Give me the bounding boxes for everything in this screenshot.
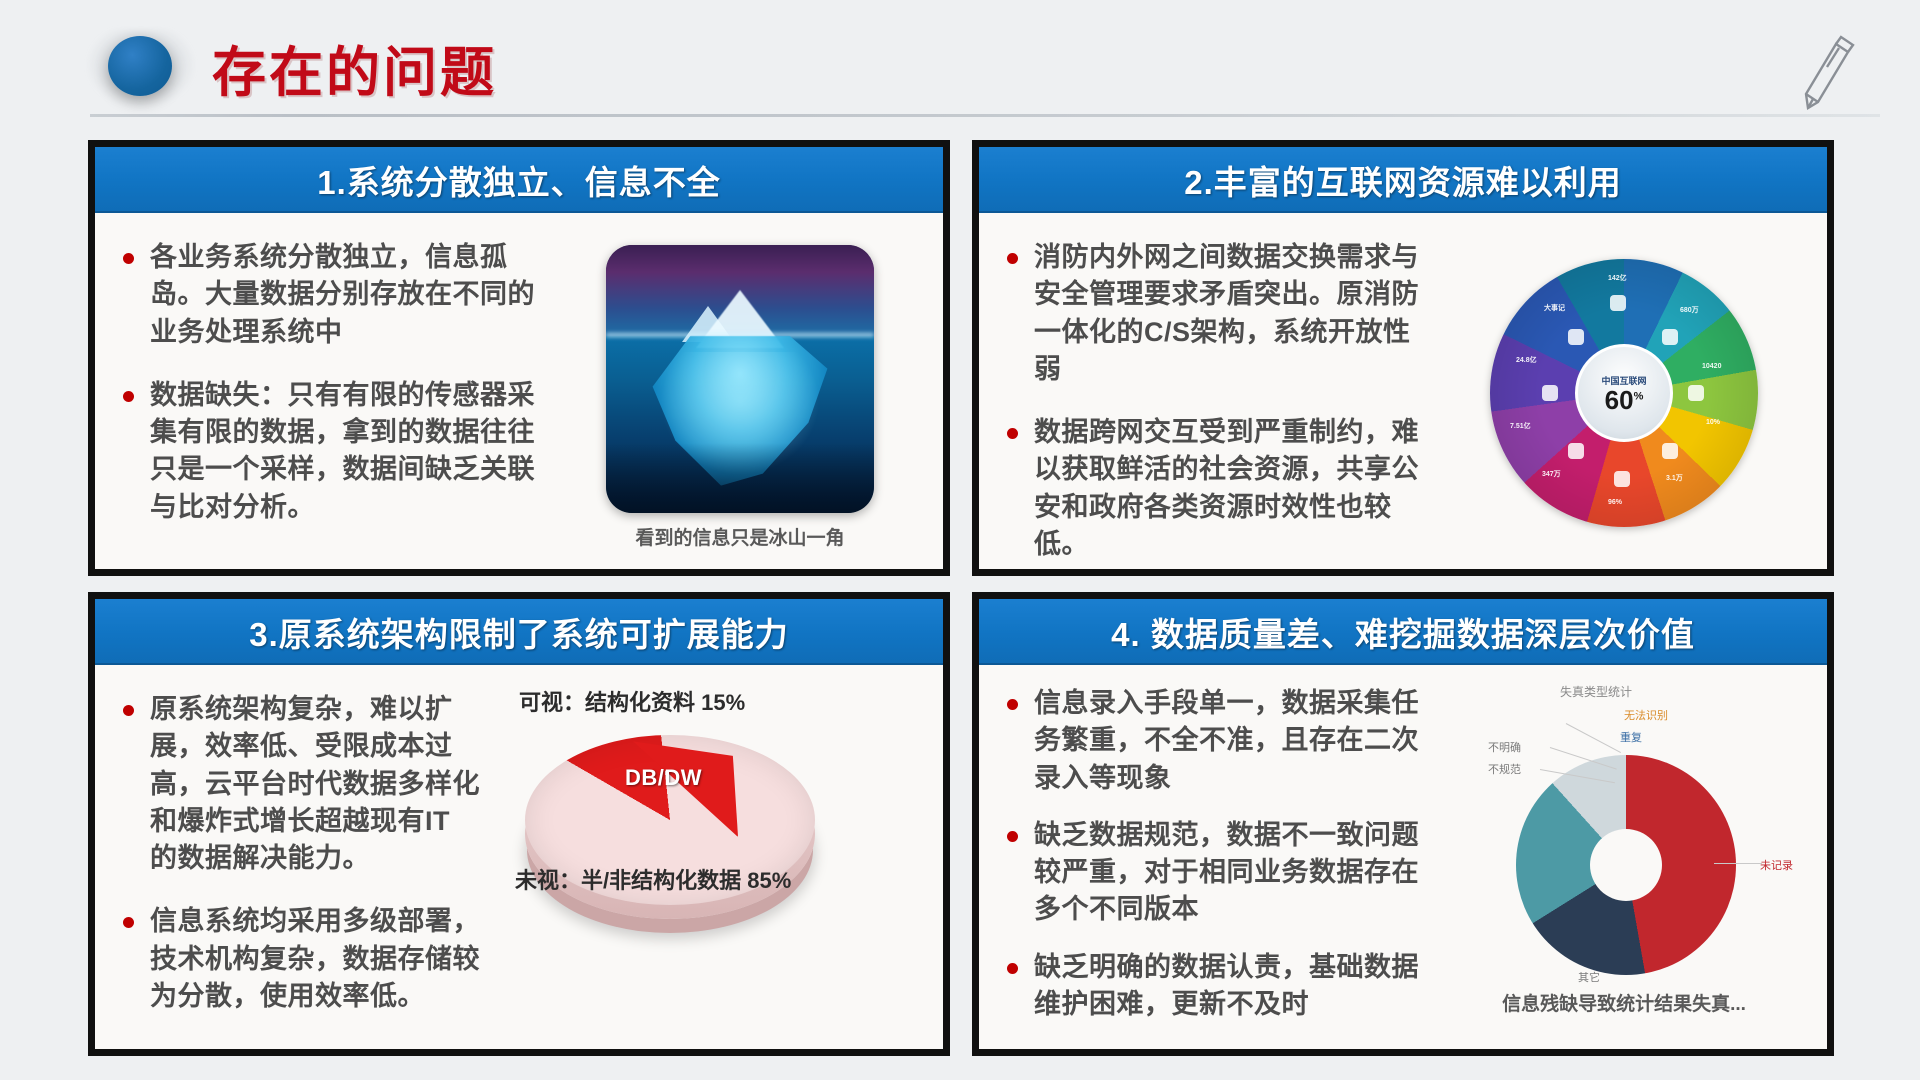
- bullet-dot-icon: [1007, 963, 1018, 974]
- quadrant-1-bullet-list: 各业务系统分散独立，信息孤岛。大量数据分别存放在不同的业务处理系统中 数据缺失：…: [105, 225, 575, 561]
- bullet-dot-icon: [1007, 699, 1018, 710]
- bullet-text: 信息录入手段单一，数据采集任务繁重，不全不准，且存在二次录入等现象: [1034, 685, 1434, 797]
- quadrant-4-media: 失真类型统计 无法识别 重复 不明确 不规范 未记录 其它 信息残缺导致统计结果…: [1459, 677, 1789, 1041]
- bullet-text: 信息系统均采用多级部署，技术机构复杂，数据存储较为分散，使用效率低。: [150, 903, 480, 1015]
- quadrant-2-body: 消防内外网之间数据交换需求与安全管理要求矛盾突出。原消防一体化的C/S架构，系统…: [979, 213, 1827, 569]
- bullet-text: 缺乏明确的数据认责，基础数据维护困难，更新不及时: [1034, 949, 1434, 1024]
- internet-resources-wheel: 142亿 大事记 680万 24.8亿 10420 7.51亿 10% 347万…: [1490, 259, 1758, 527]
- list-item: 缺乏明确的数据认责，基础数据维护困难，更新不及时: [1007, 949, 1453, 1024]
- list-item: 数据缺失：只有有限的传感器采集有限的数据，拿到的数据往往只是一个采样，数据间缺乏…: [123, 377, 569, 526]
- quadrant-4-body: 信息录入手段单一，数据采集任务繁重，不全不准，且存在二次录入等现象 缺乏数据规范…: [979, 665, 1827, 1049]
- list-item: 数据跨网交互受到严重制约，难以获取鲜活的社会资源，共享公安和政府各类资源时效性也…: [1007, 414, 1453, 563]
- pie-label-unstructured: 未视：半/非结构化数据 85%: [515, 863, 791, 895]
- quadrant-1-header-text: 1.系统分散独立、信息不全: [317, 156, 721, 204]
- quadrant-3-body: 原系统架构复杂，难以扩展，效率低、受限成本过高，云平台时代数据多样化和爆炸式增长…: [95, 665, 943, 1049]
- donut-annotation: 无法识别: [1624, 707, 1668, 723]
- quadrant-1-media: 看到的信息只是冰山一角: [575, 233, 905, 561]
- bullet-text: 各业务系统分散独立，信息孤岛。大量数据分别存放在不同的业务处理系统中: [150, 239, 540, 351]
- list-item: 消防内外网之间数据交换需求与安全管理要求矛盾突出。原消防一体化的C/S架构，系统…: [1007, 239, 1453, 388]
- list-item: 原系统架构复杂，难以扩展，效率低、受限成本过高，云平台时代数据多样化和爆炸式增长…: [123, 691, 499, 877]
- donut-annotation: 未记录: [1760, 857, 1793, 873]
- bullet-text: 原系统架构复杂，难以扩展，效率低、受限成本过高，云平台时代数据多样化和爆炸式增长…: [150, 691, 480, 877]
- wheel-center-number: 60%: [1605, 387, 1644, 413]
- quadrant-3-header-text: 3.原系统架构限制了系统可扩展能力: [249, 608, 789, 656]
- blue-ellipse-bullet-icon: [108, 36, 172, 96]
- bullet-text: 数据跨网交互受到严重制约，难以获取鲜活的社会资源，共享公安和政府各类资源时效性也…: [1034, 414, 1434, 563]
- pen-icon[interactable]: [1792, 34, 1862, 114]
- quadrant-2-header: 2.丰富的互联网资源难以利用: [979, 147, 1827, 213]
- quadrant-1-body: 各业务系统分散独立，信息孤岛。大量数据分别存放在不同的业务处理系统中 数据缺失：…: [95, 213, 943, 569]
- donut-annotation: 重复: [1620, 729, 1642, 745]
- page-title: 存在的问题: [212, 28, 497, 107]
- bullet-text: 缺乏数据规范，数据不一致问题较严重，对于相同业务数据存在多个不同版本: [1034, 817, 1434, 929]
- list-item: 各业务系统分散独立，信息孤岛。大量数据分别存放在不同的业务处理系统中: [123, 239, 569, 351]
- quadrant-2-media: 142亿 大事记 680万 24.8亿 10420 7.51亿 10% 347万…: [1459, 225, 1789, 561]
- donut-chart-title: 失真类型统计: [1560, 683, 1632, 700]
- iceberg-photo: [606, 245, 874, 513]
- donut-annotation: 其它: [1578, 969, 1600, 985]
- pie-label-visible: 可视：结构化资料 15%: [519, 685, 745, 717]
- donut-annotation: 不明确: [1488, 739, 1521, 755]
- slide-header: 存在的问题: [0, 0, 1920, 118]
- bullet-dot-icon: [1007, 428, 1018, 439]
- donut-hole: [1590, 829, 1662, 901]
- quadrant-3: 3.原系统架构限制了系统可扩展能力 原系统架构复杂，难以扩展，效率低、受限成本过…: [88, 592, 950, 1056]
- bullet-dot-icon: [1007, 831, 1018, 842]
- quadrant-2-bullet-list: 消防内外网之间数据交换需求与安全管理要求矛盾突出。原消防一体化的C/S架构，系统…: [989, 225, 1459, 561]
- list-item: 信息录入手段单一，数据采集任务繁重，不全不准，且存在二次录入等现象: [1007, 685, 1453, 797]
- bullet-dot-icon: [1007, 253, 1018, 264]
- wheel-center-stat: 中国互联网 60%: [1575, 344, 1673, 442]
- quadrant-1-header: 1.系统分散独立、信息不全: [95, 147, 943, 213]
- bullet-dot-icon: [123, 705, 134, 716]
- bullet-dot-icon: [123, 391, 134, 402]
- quadrant-4: 4. 数据质量差、难挖掘数据深层次价值 信息录入手段单一，数据采集任务繁重，不全…: [972, 592, 1834, 1056]
- quadrant-4-header: 4. 数据质量差、难挖掘数据深层次价值: [979, 599, 1827, 665]
- quadrant-3-bullet-list: 原系统架构复杂，难以扩展，效率低、受限成本过高，云平台时代数据多样化和爆炸式增长…: [105, 677, 505, 1041]
- bullet-dot-icon: [123, 917, 134, 928]
- iceberg-caption: 看到的信息只是冰山一角: [635, 523, 844, 550]
- donut-chart-data-quality: 失真类型统计 无法识别 重复 不明确 不规范 未记录 其它: [1474, 677, 1774, 1007]
- quadrant-2-header-text: 2.丰富的互联网资源难以利用: [1184, 156, 1622, 204]
- list-item: 信息系统均采用多级部署，技术机构复杂，数据存储较为分散，使用效率低。: [123, 903, 499, 1015]
- quadrant-3-header: 3.原系统架构限制了系统可扩展能力: [95, 599, 943, 665]
- pie-slice-label-dbdw: DB/DW: [625, 765, 702, 791]
- quadrant-4-bullet-list: 信息录入手段单一，数据采集任务繁重，不全不准，且存在二次录入等现象 缺乏数据规范…: [989, 677, 1459, 1041]
- donut-annotation: 不规范: [1488, 761, 1521, 777]
- quadrant-3-media: 可视：结构化资料 15% DB/DW 未视：半/非结构化数据 85%: [505, 677, 905, 1041]
- header-divider: [90, 114, 1880, 117]
- bullet-text: 消防内外网之间数据交换需求与安全管理要求矛盾突出。原消防一体化的C/S架构，系统…: [1034, 239, 1434, 388]
- quadrant-2: 2.丰富的互联网资源难以利用 消防内外网之间数据交换需求与安全管理要求矛盾突出。…: [972, 140, 1834, 576]
- quadrant-4-header-text: 4. 数据质量差、难挖掘数据深层次价值: [1111, 608, 1695, 656]
- list-item: 缺乏数据规范，数据不一致问题较严重，对于相同业务数据存在多个不同版本: [1007, 817, 1453, 929]
- bullet-text: 数据缺失：只有有限的传感器采集有限的数据，拿到的数据往往只是一个采样，数据间缺乏…: [150, 377, 540, 526]
- quadrant-1: 1.系统分散独立、信息不全 各业务系统分散独立，信息孤岛。大量数据分别存放在不同…: [88, 140, 950, 576]
- bullet-dot-icon: [123, 253, 134, 264]
- pie-chart-structured-vs-unstructured: 可视：结构化资料 15% DB/DW 未视：半/非结构化数据 85%: [505, 677, 835, 977]
